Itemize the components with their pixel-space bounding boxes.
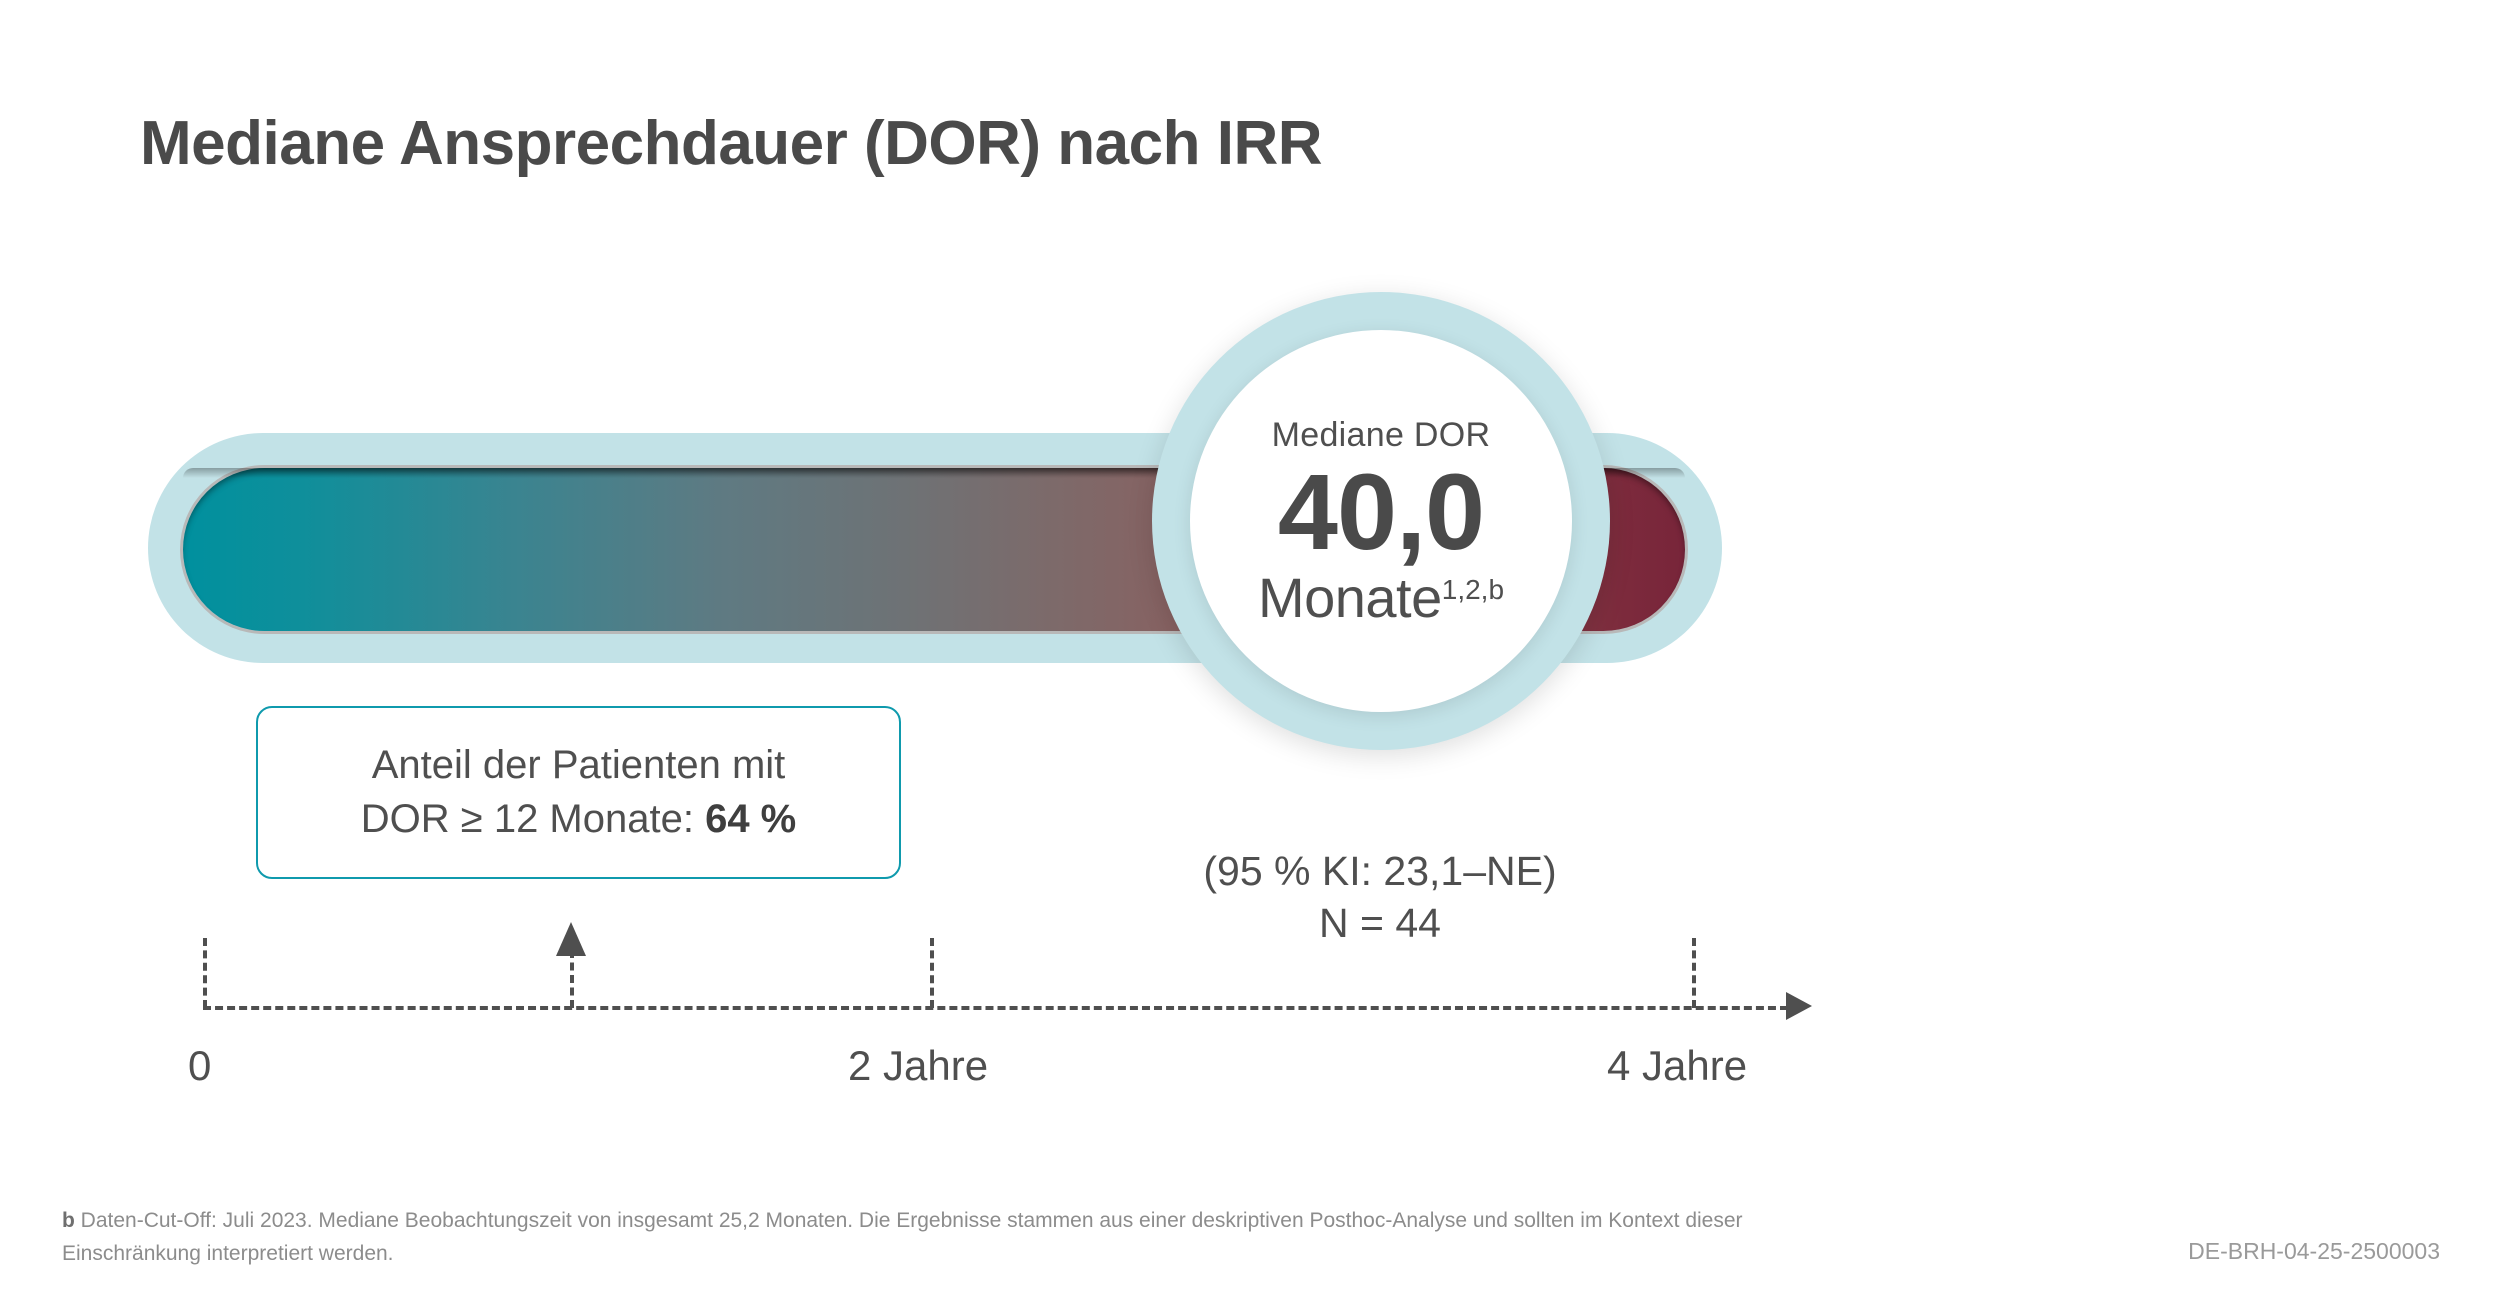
median-badge-unit: Monate [1258,570,1442,626]
page-title: Mediane Ansprechdauer (DOR) nach IRR [140,108,1322,179]
callout-marker-stem [570,950,574,1008]
callout-marker-arrow-icon [556,922,586,956]
statistics-block: (95 % KI: 23,1–NE) N = 44 [1150,845,1610,950]
axis-tick-0 [203,938,207,1008]
footnote-marker: b [62,1209,75,1232]
callout-line-2-prefix: DOR ≥ 12 Monate: [361,797,705,841]
axis-tick-4-years [1692,938,1696,1008]
median-badge-label: Mediane DOR [1272,416,1491,455]
dor-callout-box: Anteil der Patienten mit DOR ≥ 12 Monate… [256,706,901,879]
axis-tick-2-years [930,938,934,1008]
sample-size-text: N = 44 [1150,897,1610,949]
callout-line-2: DOR ≥ 12 Monate: 64 % [361,793,797,846]
median-badge: Mediane DOR 40,0 Monate 1,2,b [1190,330,1572,712]
median-badge-unit-row: Monate 1,2,b [1258,570,1504,626]
axis-label-0: 0 [188,1042,211,1090]
callout-line-1: Anteil der Patienten mit [372,739,786,792]
axis-arrow-icon [1786,992,1812,1020]
axis-label-2-years: 2 Jahre [848,1042,988,1090]
document-code: DE-BRH-04-25-2500003 [2188,1238,2440,1265]
median-badge-superscript: 1,2,b [1442,576,1504,604]
footnote-text: Daten-Cut-Off: Juli 2023. Mediane Beobac… [62,1209,1743,1265]
footnote: b Daten-Cut-Off: Juli 2023. Mediane Beob… [62,1205,1762,1270]
confidence-interval-text: (95 % KI: 23,1–NE) [1150,845,1610,897]
callout-percentage-value: 64 % [705,797,796,841]
axis-baseline [203,1006,1788,1010]
slide-root: Mediane Ansprechdauer (DOR) nach IRR Med… [0,0,2500,1312]
median-badge-value: 40,0 [1278,457,1484,567]
axis-label-4-years: 4 Jahre [1607,1042,1747,1090]
